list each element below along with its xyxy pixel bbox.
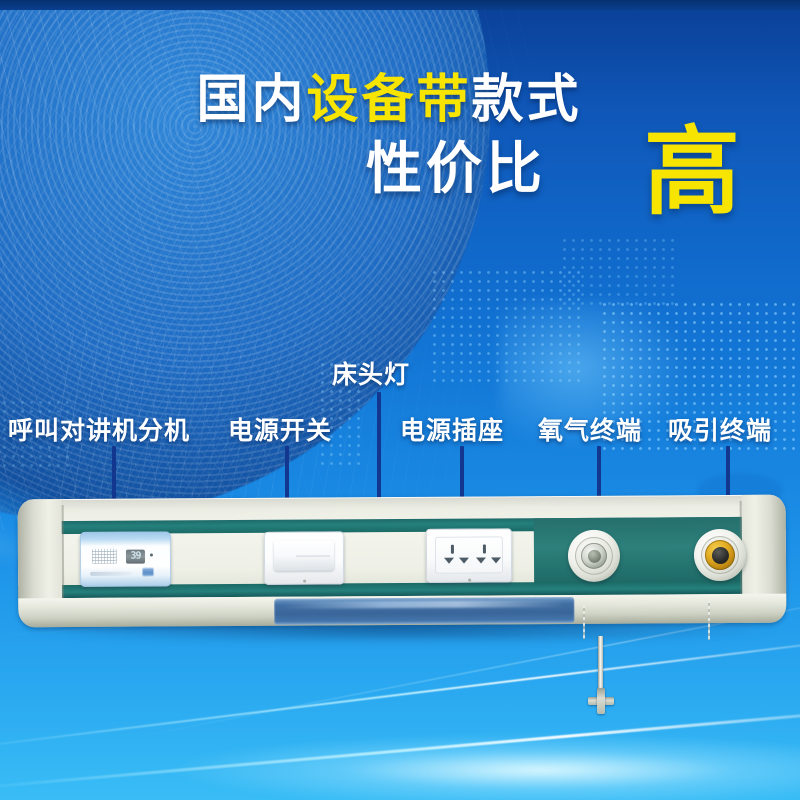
socket-pin-icon [451, 545, 454, 554]
headline-block: 国内设备带款式 性价比 高 [0, 74, 800, 238]
oxygen-gas-outlet[interactable] [568, 530, 620, 582]
callout-label-power-switch: 电源开关 [228, 418, 332, 443]
universal-power-socket[interactable] [426, 528, 512, 583]
socket-slot-icon [476, 557, 486, 563]
socket-face [435, 536, 503, 573]
panel-body: 39 [18, 495, 787, 628]
bed-head-unit: 39 [18, 497, 786, 637]
rocker-paddle[interactable] [274, 540, 334, 570]
callout-label-bed-lamp: 床头灯 [332, 362, 410, 387]
outlet-port [588, 550, 601, 563]
outlet-port [712, 547, 729, 564]
socket-slot-icon [459, 558, 469, 564]
socket-slot-icon [491, 557, 501, 563]
intercom-display: 39 [126, 550, 145, 564]
headline-part-2-accent: 设备带 [306, 70, 471, 130]
fixing-screw [468, 579, 471, 582]
nurse-call-intercom[interactable]: 39 [80, 531, 171, 587]
top-edge-bar [0, 0, 800, 10]
headline-part-3: 款式 [472, 70, 582, 130]
iv-drip-hanger-hook [588, 688, 614, 714]
fixing-screw [303, 580, 306, 583]
headline-part-1: 国内 [196, 70, 306, 130]
terminal-cord [708, 600, 710, 640]
headline-subtitle: 性价比 [366, 142, 546, 198]
socket-slot-icon [444, 558, 454, 564]
socket-pin-icon [483, 544, 486, 553]
rocker-seam [296, 555, 330, 556]
callout-label-suction: 吸引终端 [668, 418, 772, 443]
call-button[interactable] [142, 568, 154, 577]
headline-line-2: 性价比 高 [0, 142, 800, 238]
hook-arm-vertical [597, 688, 605, 714]
callout-label-power-socket: 电源插座 [400, 418, 504, 443]
suction-gas-outlet[interactable] [694, 529, 746, 581]
marketing-banner: 国内设备带款式 性价比 高 呼叫对讲机分机电源开关床头灯电源插座氧气终端吸引终端… [0, 0, 800, 800]
speaker-grille-icon [92, 549, 117, 564]
headline-big-word: 高 [644, 124, 740, 220]
callout-label-oxygen: 氧气终端 [538, 418, 642, 443]
callout-label-intercom: 呼叫对讲机分机 [8, 418, 190, 443]
indicator-led [150, 554, 153, 557]
power-rocker-switch[interactable] [264, 531, 344, 584]
terminal-cord [583, 605, 585, 639]
brand-strip [90, 572, 132, 576]
